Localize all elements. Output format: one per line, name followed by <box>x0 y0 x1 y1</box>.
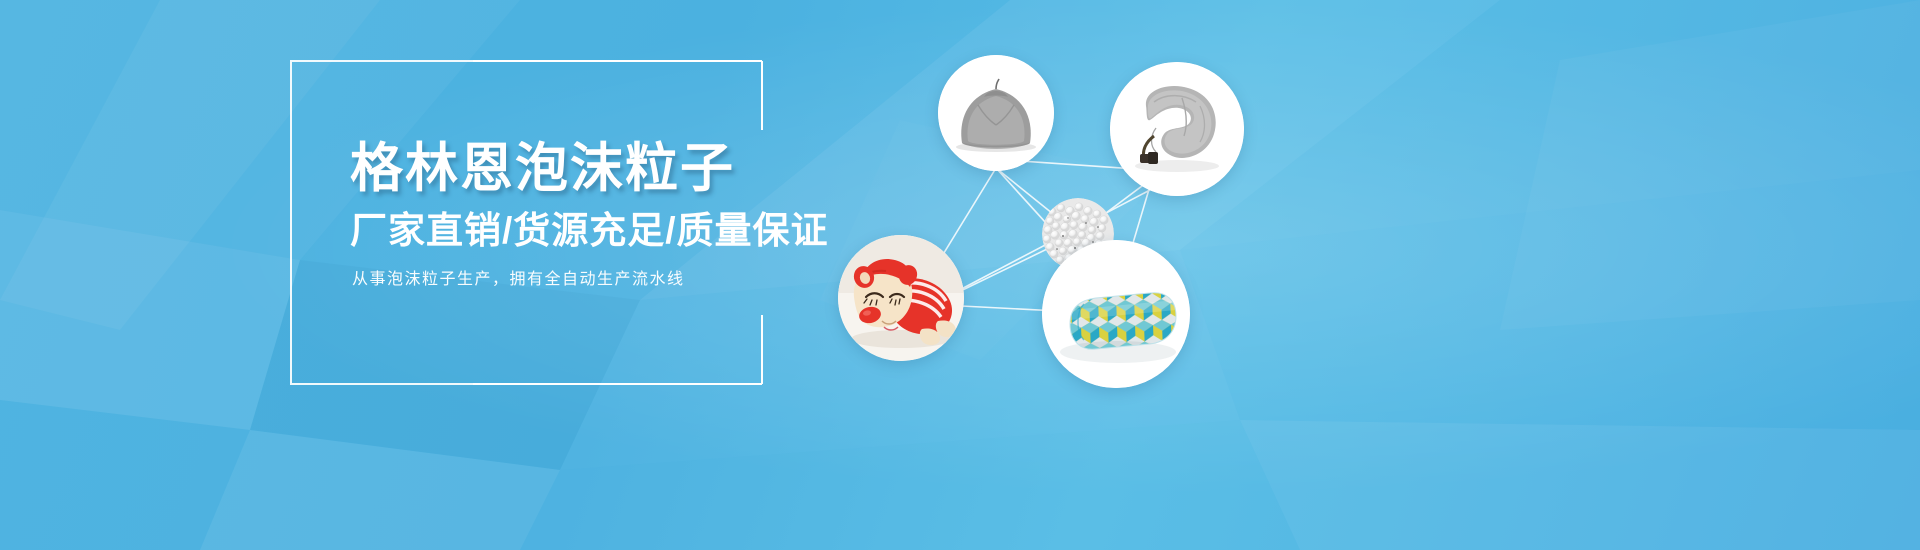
tagline: 从事泡沫粒子生产，拥有全自动生产流水线 <box>352 272 685 288</box>
page-title: 格林恩泡沫粒子 <box>350 142 735 195</box>
product-neck-pillow-image <box>1110 62 1244 196</box>
product-bolster-pillow-image <box>1042 240 1190 388</box>
product-plush-toy[interactable] <box>838 235 964 361</box>
product-bolster-pillow[interactable] <box>1042 240 1190 388</box>
product-cluster <box>820 0 1340 550</box>
product-beanbag-image <box>938 55 1054 171</box>
subtitle: 厂家直销/货源充足/质量保证 <box>350 212 829 249</box>
promo-banner: 格林恩泡沫粒子 厂家直销/货源充足/质量保证 从事泡沫粒子生产，拥有全自动生产流… <box>0 0 1920 550</box>
product-plush-toy-image <box>838 235 964 361</box>
product-neck-pillow[interactable] <box>1110 62 1244 196</box>
product-beanbag[interactable] <box>938 55 1054 171</box>
